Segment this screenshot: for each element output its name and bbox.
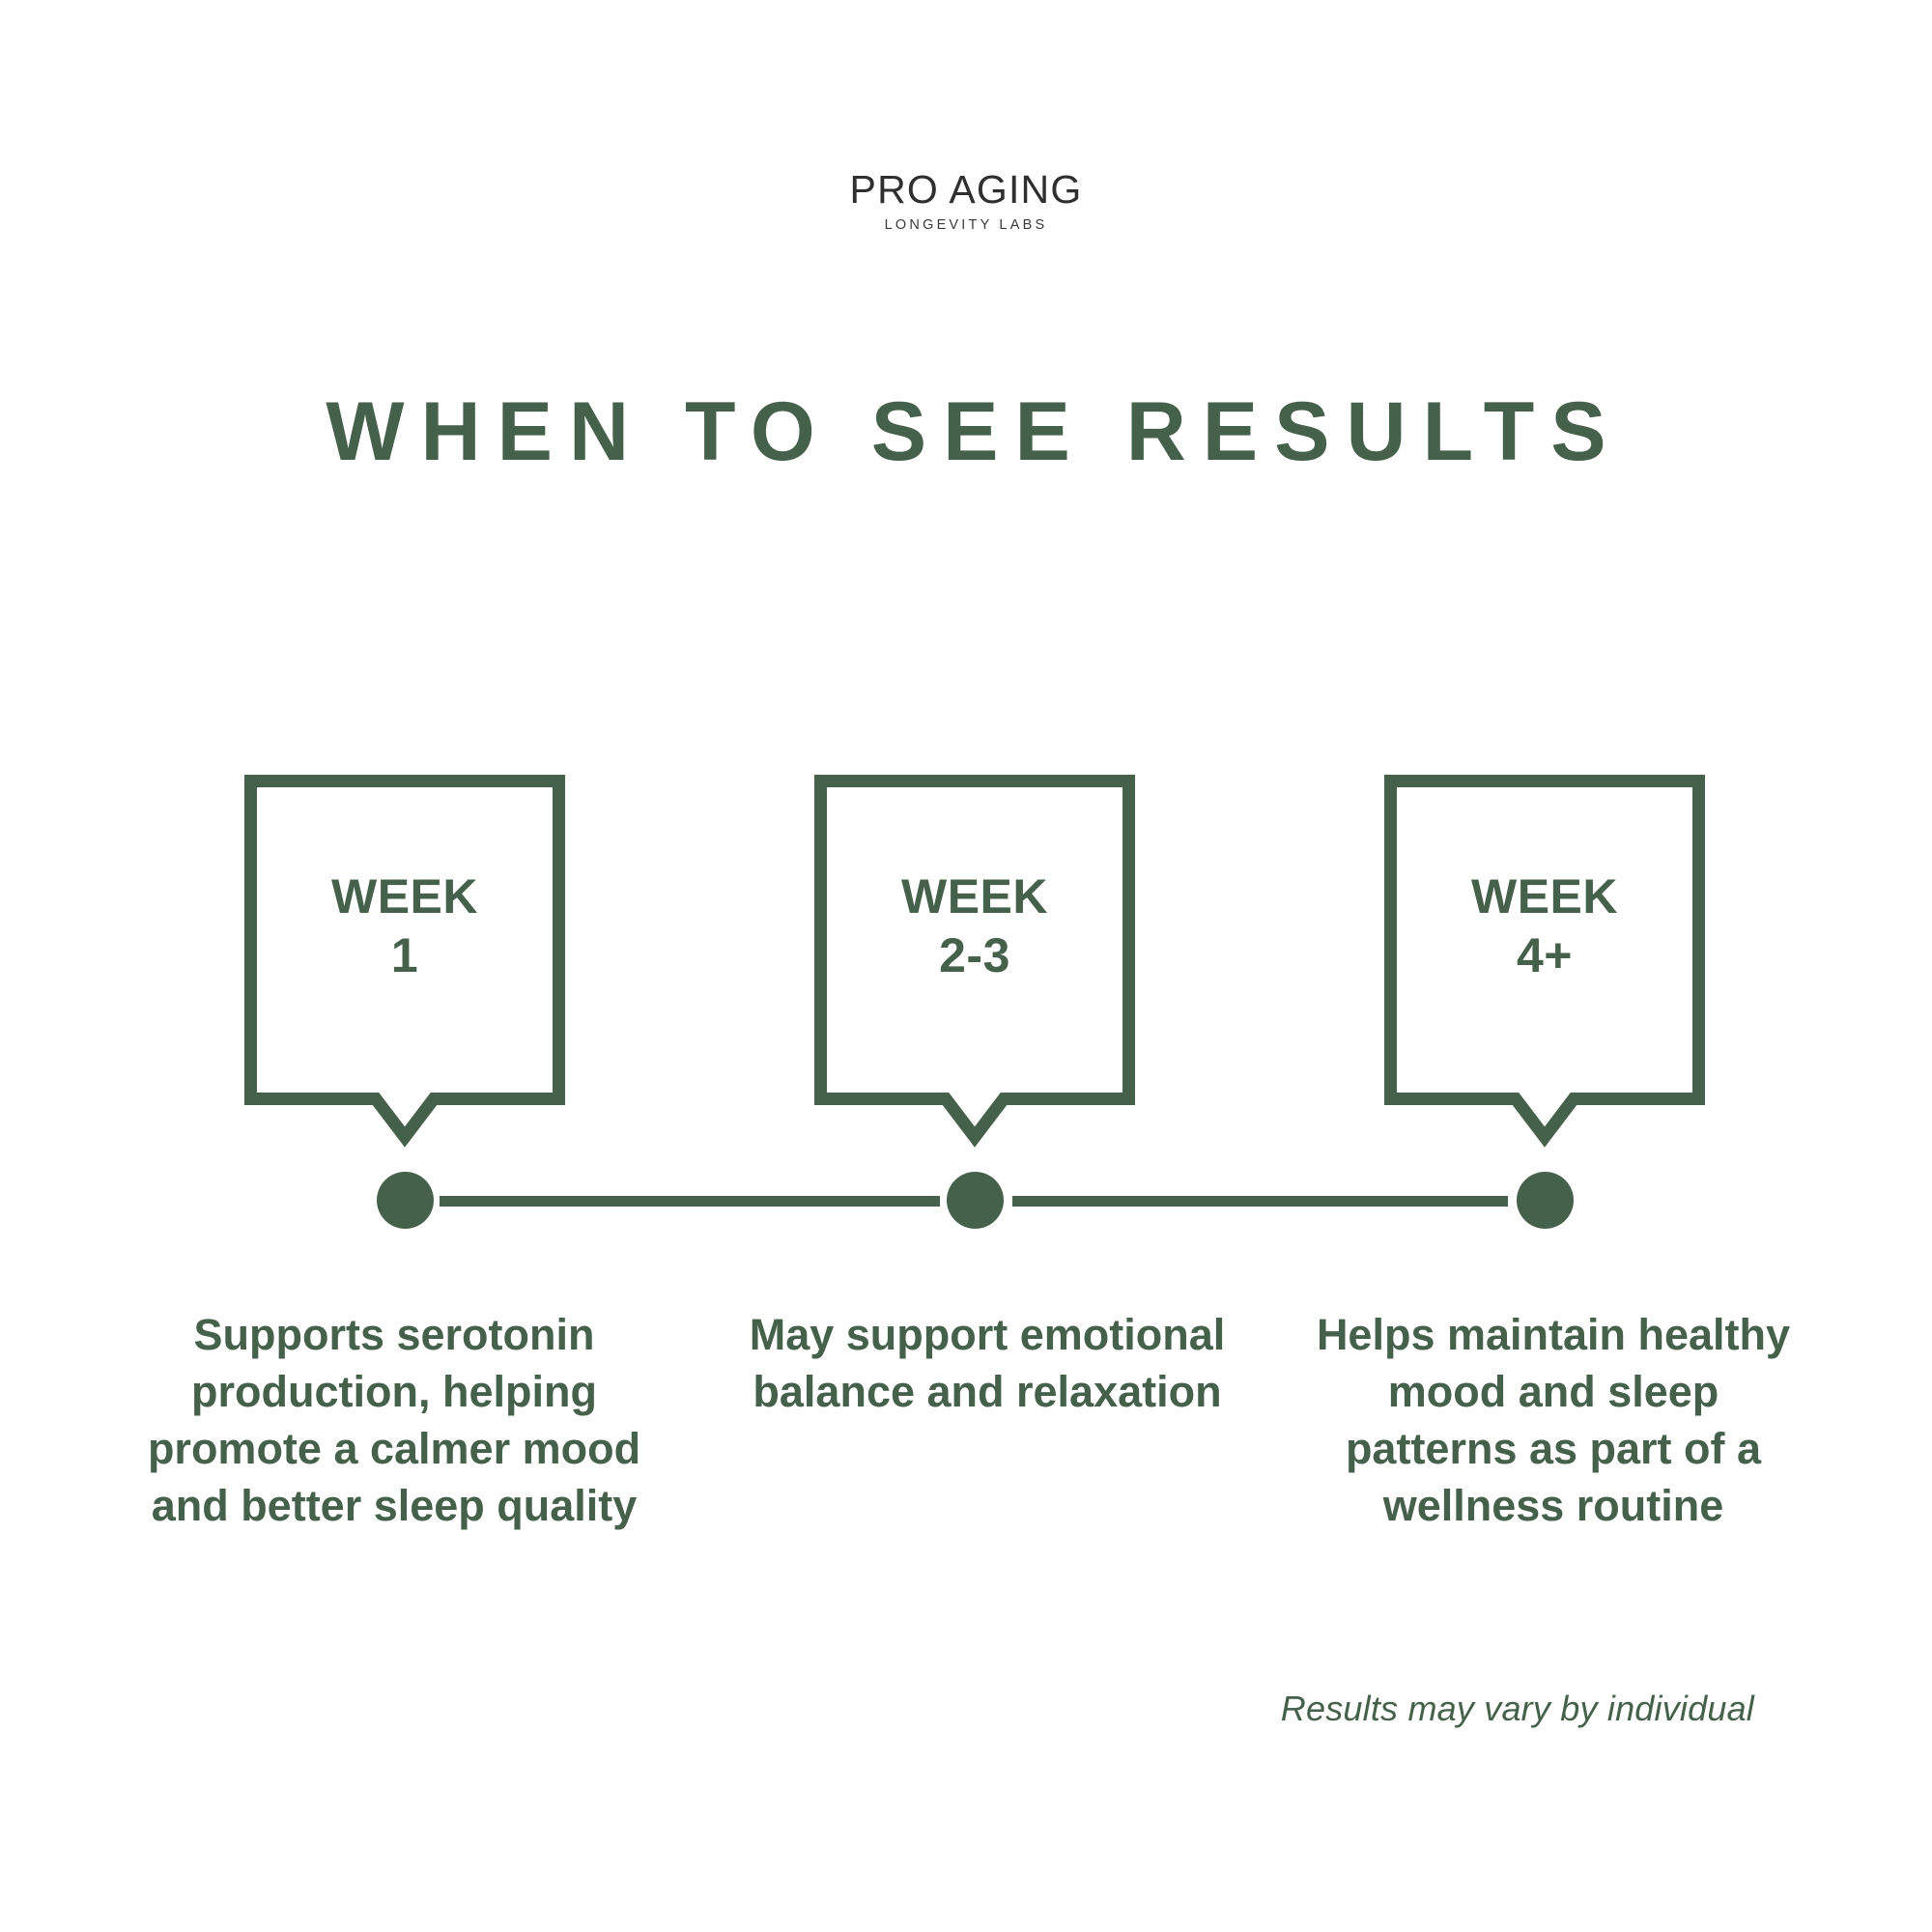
- week-label-2: WEEK 2-3: [814, 867, 1135, 985]
- timeline-dot-1: [377, 1172, 434, 1229]
- timeline-connector-2: [1012, 1196, 1508, 1207]
- week-word-3: WEEK: [1471, 869, 1618, 923]
- milestone-description-1: Supports serotonin production, helping p…: [124, 1307, 665, 1535]
- week-label-1: WEEK 1: [244, 867, 565, 985]
- week-label-3: WEEK 4+: [1384, 867, 1705, 985]
- timeline-dot-2: [947, 1172, 1004, 1229]
- week-callout-box-1: WEEK 1: [244, 775, 565, 1105]
- week-callout-box-2: WEEK 2-3: [814, 775, 1135, 1105]
- week-value-3: 4+: [1384, 926, 1705, 985]
- milestone-description-2: May support emotional balance and relaxa…: [688, 1307, 1287, 1421]
- milestone-description-3: Helps maintain healthy mood and sleep pa…: [1302, 1307, 1804, 1535]
- timeline-dot-3: [1517, 1172, 1574, 1229]
- timeline-connector-1: [440, 1196, 940, 1207]
- infographic-canvas: PRO AGING LONGEVITY LABS WHEN TO SEE RES…: [0, 0, 1932, 1932]
- disclaimer-note: Results may vary by individual: [0, 1689, 1754, 1729]
- timeline-graphic: WEEK 1 WEEK 2-3 WEEK 4+: [0, 0, 1932, 1932]
- week-value-2: 2-3: [814, 926, 1135, 985]
- week-value-1: 1: [244, 926, 565, 985]
- week-callout-box-3: WEEK 4+: [1384, 775, 1705, 1105]
- week-word-2: WEEK: [901, 869, 1048, 923]
- week-word-1: WEEK: [331, 869, 478, 923]
